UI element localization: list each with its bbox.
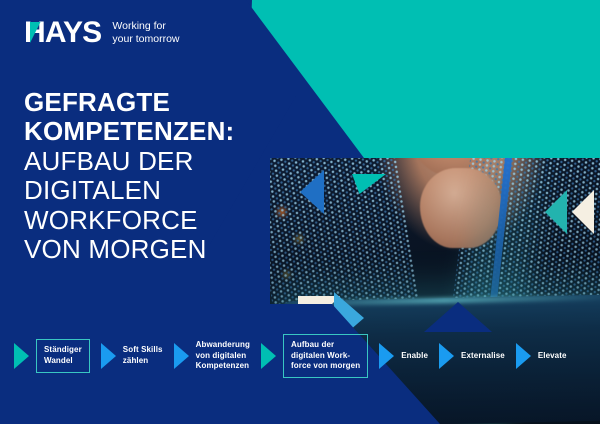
logo-tagline: Working for your tomorrow [112, 20, 179, 46]
process-step-abwanderung[interactable]: Abwanderung von digitalen Kompetenzen [174, 340, 250, 372]
process-step-soft-skills[interactable]: Soft Skills zählen [101, 343, 163, 369]
process-step-elevate[interactable]: Elevate [516, 343, 567, 369]
process-step-label: Ständiger Wandel [36, 339, 90, 372]
process-navigation: Ständiger Wandel Soft Skills zählen Abwa… [0, 330, 600, 382]
process-step-label: Externalise [461, 351, 505, 362]
process-step-label: Elevate [538, 351, 567, 362]
process-step-label: Soft Skills zählen [123, 345, 163, 366]
arrow-right-icon [14, 343, 29, 369]
arrow-right-icon [261, 343, 276, 369]
headline-line: Aufbau der [24, 147, 324, 176]
logo-wordmark: HAYS [24, 18, 101, 48]
process-step-aufbau-workforce[interactable]: Aufbau der digitalen Work- force von mor… [261, 334, 368, 378]
headline-line: Kompetenzen: [24, 117, 324, 146]
process-step-label: Abwanderung von digitalen Kompetenzen [196, 340, 250, 372]
logo-text: HAYS [24, 16, 101, 49]
arrow-right-icon [516, 343, 531, 369]
arrow-right-icon [379, 343, 394, 369]
headline-line: Gefragte [24, 88, 324, 117]
process-step-label: Aufbau der digitalen Work- force von mor… [283, 334, 368, 378]
process-step-enable[interactable]: Enable [379, 343, 428, 369]
process-step-externalise[interactable]: Externalise [439, 343, 505, 369]
process-step-label: Enable [401, 351, 428, 362]
headline-line: Workforce [24, 206, 324, 235]
headline-line: von Morgen [24, 235, 324, 264]
cover-page: HAYS Working for your tomorrow Gefragte … [0, 0, 600, 424]
arrow-right-icon [439, 343, 454, 369]
process-step-staendiger-wandel[interactable]: Ständiger Wandel [14, 339, 90, 372]
headline-line: digitalen [24, 176, 324, 205]
arrow-right-icon [174, 343, 189, 369]
triangle-teal-left [545, 190, 567, 234]
page-title: Gefragte Kompetenzen: Aufbau der digital… [24, 88, 324, 264]
triangle-navy-up [424, 302, 492, 332]
hays-logo[interactable]: HAYS Working for your tomorrow [24, 18, 180, 48]
arrow-right-icon [101, 343, 116, 369]
